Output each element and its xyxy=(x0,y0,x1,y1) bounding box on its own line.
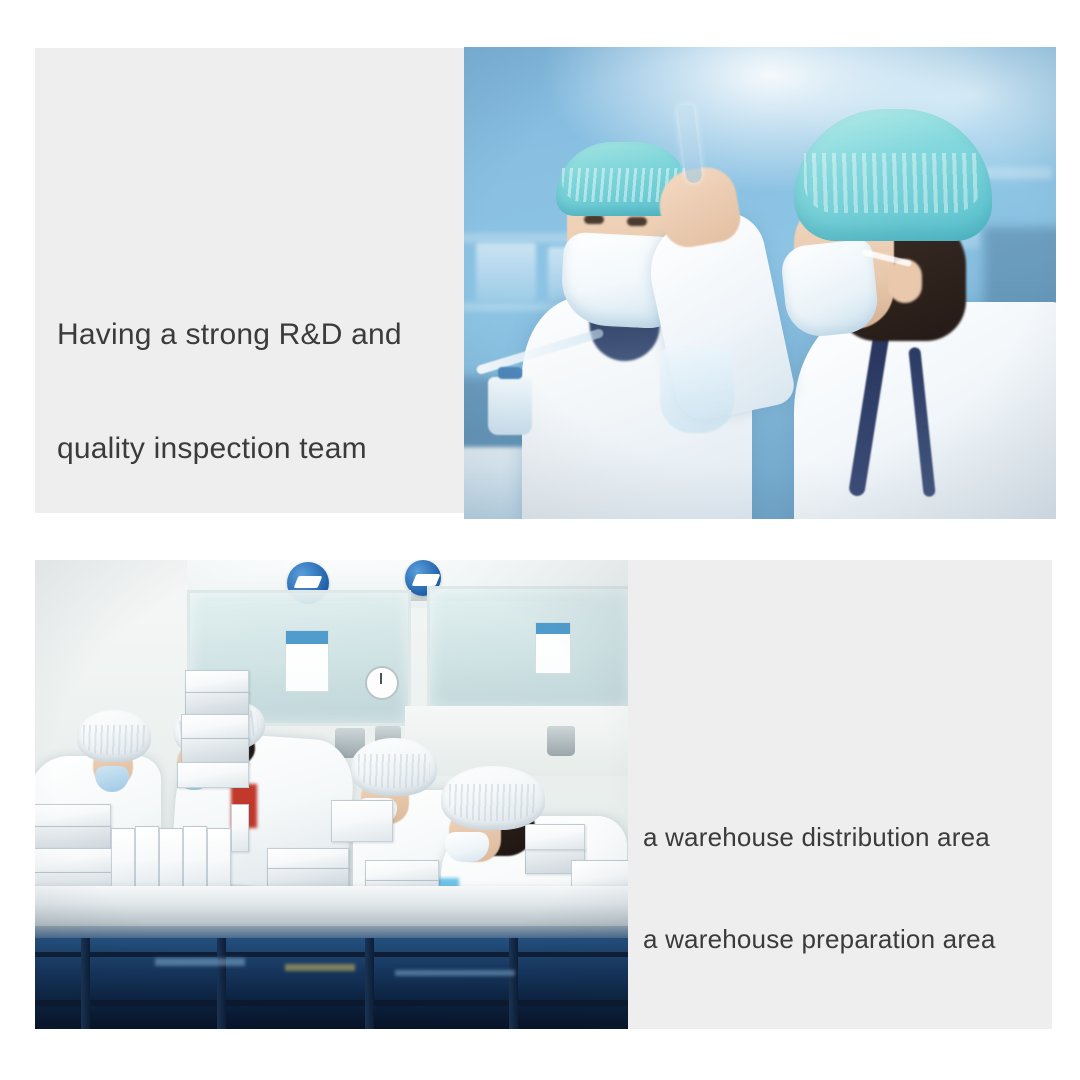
lab-reagent-bottle xyxy=(488,377,532,435)
box-stack-item xyxy=(525,824,585,850)
table-leg xyxy=(81,938,90,1029)
box-stack-item xyxy=(267,848,349,870)
table-leg xyxy=(217,938,226,1029)
table-metal-glint-right xyxy=(395,970,515,976)
box-stack-item xyxy=(181,738,249,764)
box-stack-item xyxy=(181,714,249,740)
box-stack-item xyxy=(35,848,113,874)
technician-left-eye-left xyxy=(584,215,604,224)
box-stack-item xyxy=(35,826,111,850)
table-leg xyxy=(509,938,518,1029)
box-stack-item xyxy=(177,762,249,788)
warehouse-worker-4-mask xyxy=(445,832,489,862)
warehouse-photo xyxy=(35,560,628,1029)
warehouse-caption-line-1: a warehouse distribution area xyxy=(643,820,996,854)
table-glint-warm xyxy=(285,964,355,971)
poster-canvas: Having a strong R&D and quality inspecti… xyxy=(0,0,1080,1080)
notice-poster-right xyxy=(535,622,571,674)
box-flat xyxy=(331,800,393,842)
table-crossbar-top xyxy=(35,952,628,957)
wall-clock xyxy=(365,666,399,700)
table-edge xyxy=(35,926,628,938)
technician-left-eye-right xyxy=(627,217,647,226)
warehouse-caption-line-2: a warehouse preparation area xyxy=(643,922,996,956)
box-stack-item xyxy=(185,692,249,716)
bottle-upright xyxy=(231,804,249,852)
box-stack-item xyxy=(185,670,249,694)
rnd-lab-photo xyxy=(464,47,1056,519)
notice-poster-left xyxy=(285,630,329,692)
table-crossbar-bottom xyxy=(35,1000,628,1006)
back-counter-wall xyxy=(405,706,628,776)
rnd-caption-line-2: quality inspection team xyxy=(57,430,402,468)
warehouse-worker-1-hairnet xyxy=(77,710,151,762)
table-metal-glint xyxy=(155,958,245,966)
table-leg xyxy=(365,938,374,1029)
rnd-caption: Having a strong R&D and quality inspecti… xyxy=(57,240,402,544)
lab-glass-panel-a xyxy=(476,243,536,301)
box-stack-item xyxy=(365,860,439,882)
interior-window-right xyxy=(427,586,628,712)
box-stack-item xyxy=(35,804,111,828)
warehouse-worker-3-hairnet xyxy=(351,738,437,796)
steel-canister-3 xyxy=(547,726,575,756)
warehouse-caption: a warehouse distribution area a warehous… xyxy=(643,752,996,1024)
rnd-caption-line-1: Having a strong R&D and xyxy=(57,316,402,354)
warehouse-worker-4-hairnet xyxy=(441,766,545,830)
lab-flask xyxy=(660,347,734,433)
